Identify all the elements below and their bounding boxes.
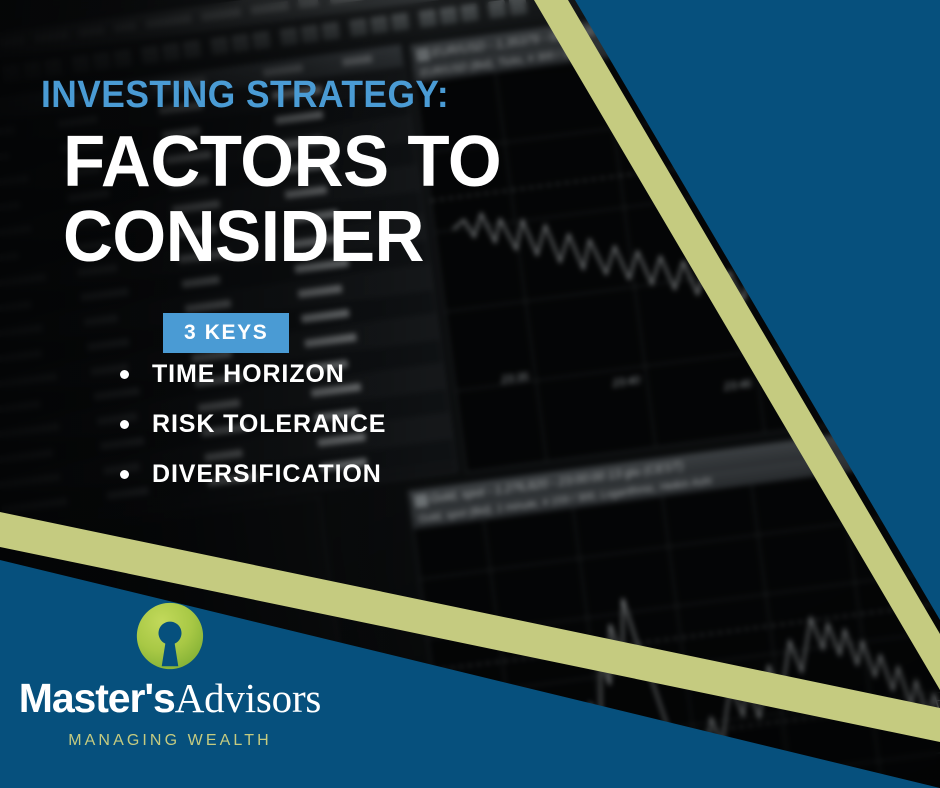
list-item: RISK TOLERANCE (120, 412, 540, 437)
brand-wordmark: Master'sAdvisors (0, 678, 340, 719)
page-title: FACTORS TO CONSIDER (63, 128, 514, 272)
list-item-label: TIME HORIZON (152, 362, 345, 387)
bullet-dot-icon (120, 470, 129, 479)
list-item-label: DIVERSIFICATION (152, 462, 382, 487)
brand-tagline: MANAGING WEALTH (0, 732, 340, 750)
list-item-label: RISK TOLERANCE (152, 412, 386, 437)
bullet-dot-icon (120, 370, 129, 379)
eyebrow-text: INVESTING STRATEGY: (41, 76, 449, 114)
status-badge: 3 KEYS (163, 313, 289, 353)
list-item: TIME HORIZON (120, 362, 540, 387)
navy-triangle-top-right (575, 0, 940, 620)
brand-logo-lockup: Master'sAdvisors MANAGING WEALTH (0, 600, 340, 750)
headline-line-1: FACTORS TO (63, 122, 501, 202)
headline-line-2: CONSIDER (63, 203, 514, 271)
list-item: DIVERSIFICATION (120, 462, 540, 487)
wordmark-secondary: Advisors (175, 675, 321, 721)
social-graphic-canvas: EUR/USD - 1,35379 - 00:00:00 14 giu (CES… (0, 0, 940, 788)
key-factors-list: TIME HORIZON RISK TOLERANCE DIVERSIFICAT… (120, 362, 540, 512)
bullet-dot-icon (120, 420, 129, 429)
keyhole-logo-icon (134, 600, 206, 672)
wordmark-primary: Master's (19, 675, 175, 721)
